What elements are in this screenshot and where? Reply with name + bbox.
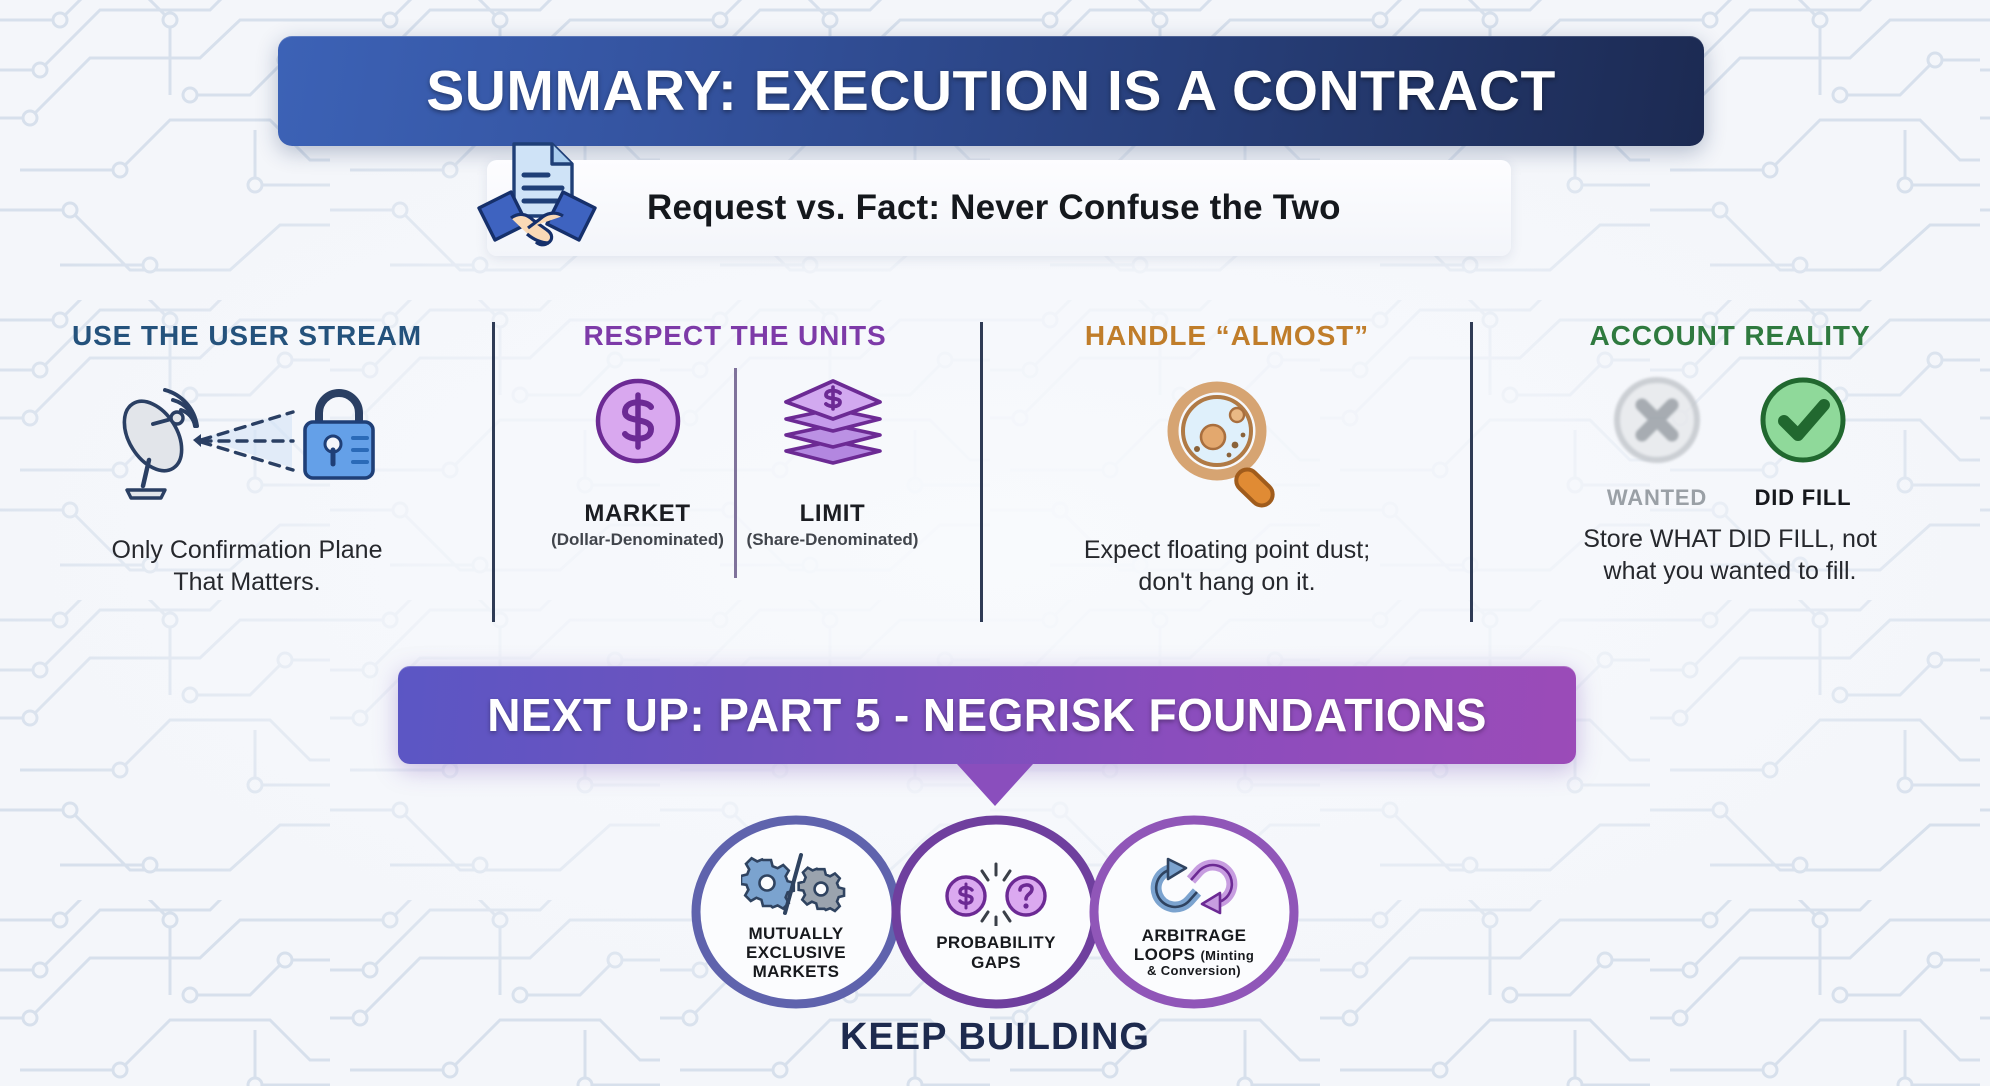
unit-name: MARKET bbox=[550, 500, 726, 528]
column-use-the-user-stream: USE THE USER STREAM bbox=[12, 320, 482, 630]
subtitle-card: Request vs. Fact: Never Confuse the Two bbox=[487, 160, 1511, 256]
units-pair: MARKET (Dollar-Denominated) bbox=[500, 362, 970, 578]
column-respect-the-units: RESPECT THE UNITS MARKET (Dollar-Denomin… bbox=[500, 320, 970, 630]
satellite-dish-to-padlock-icon bbox=[97, 378, 397, 513]
column-heading: ACCOUNT REALITY bbox=[1482, 320, 1978, 352]
column-handle-almost: HANDLE “ALMOST” Expect floating point du… bbox=[992, 320, 1462, 630]
grey-x-circle-icon bbox=[1605, 368, 1709, 472]
unit-note: (Dollar-Denominated) bbox=[550, 530, 726, 550]
topic-label: MUTUALLY EXCLUSIVE MARKETS bbox=[746, 924, 846, 981]
banner-arrow-tail bbox=[957, 764, 1033, 806]
green-check-circle-icon bbox=[1751, 368, 1855, 472]
column-account-reality: ACCOUNT REALITY WANTED DID FILL bbox=[1482, 320, 1978, 630]
arbitrage-loop-arrows-icon bbox=[1138, 853, 1250, 919]
topic-probability-gaps: PROBABILITY GAPS bbox=[885, 812, 1107, 1012]
unit-market: MARKET (Dollar-Denominated) bbox=[550, 362, 726, 550]
stacked-layers-icon bbox=[778, 371, 888, 471]
two-gears-slash-icon bbox=[741, 853, 851, 917]
next-up-banner: NEXT UP: PART 5 - NEGRISK FOUNDATIONS bbox=[398, 666, 1576, 764]
magnifying-glass-dust-icon bbox=[1155, 373, 1300, 518]
topic-mutually-exclusive-markets: MUTUALLY EXCLUSIVE MARKETS bbox=[685, 812, 907, 1012]
column-divider-3 bbox=[1470, 322, 1473, 622]
topic-arbitrage-loops: ARBITRAGE LOOPS (Minting & Conversion) bbox=[1083, 812, 1305, 1012]
column-artwork bbox=[12, 370, 482, 520]
column-heading: HANDLE “ALMOST” bbox=[992, 320, 1462, 352]
unit-artwork bbox=[550, 362, 726, 480]
column-artwork bbox=[992, 370, 1462, 520]
column-body: Store WHAT DID FILL, not what you wanted… bbox=[1482, 523, 1978, 587]
units-inner-divider bbox=[734, 368, 737, 578]
topic-artwork bbox=[938, 852, 1054, 926]
column-body: Only Confirmation Plane That Matters. bbox=[12, 534, 482, 598]
topic-label: ARBITRAGE LOOPS (Minting & Conversion) bbox=[1134, 926, 1254, 979]
column-divider-1 bbox=[492, 322, 495, 622]
topic-artwork bbox=[741, 843, 851, 917]
column-heading: RESPECT THE UNITS bbox=[500, 320, 970, 352]
status-label: WANTED bbox=[1605, 485, 1709, 511]
topic-label: PROBABILITY GAPS bbox=[936, 933, 1056, 971]
unit-artwork bbox=[745, 362, 921, 480]
topics-cluster: MUTUALLY EXCLUSIVE MARKETS bbox=[0, 812, 1990, 1022]
key-points-row: USE THE USER STREAM bbox=[0, 320, 1990, 630]
status-wanted: WANTED bbox=[1605, 368, 1709, 511]
handshake-document-icon bbox=[467, 130, 607, 256]
coin-question-spark-icon bbox=[938, 860, 1054, 926]
column-body: Expect floating point dust; don't hang o… bbox=[992, 534, 1462, 598]
status-label: DID FILL bbox=[1751, 485, 1855, 511]
unit-limit: LIMIT (Share-Denominated) bbox=[745, 362, 921, 550]
next-up-text: NEXT UP: PART 5 - NEGRISK FOUNDATIONS bbox=[487, 688, 1487, 742]
status-did-fill: DID FILL bbox=[1751, 368, 1855, 511]
fill-status-pair: WANTED DID FILL bbox=[1482, 368, 1978, 511]
unit-name: LIMIT bbox=[745, 500, 921, 528]
topic-artwork bbox=[1138, 845, 1250, 919]
column-heading: USE THE USER STREAM bbox=[12, 320, 482, 352]
dollar-coin-icon bbox=[588, 371, 688, 471]
footer-keep-building: KEEP BUILDING bbox=[0, 1016, 1990, 1059]
column-divider-2 bbox=[980, 322, 983, 622]
subtitle-text: Request vs. Fact: Never Confuse the Two bbox=[647, 188, 1341, 228]
unit-note: (Share-Denominated) bbox=[745, 530, 921, 550]
page-title: SUMMARY: EXECUTION IS A CONTRACT bbox=[426, 58, 1556, 124]
